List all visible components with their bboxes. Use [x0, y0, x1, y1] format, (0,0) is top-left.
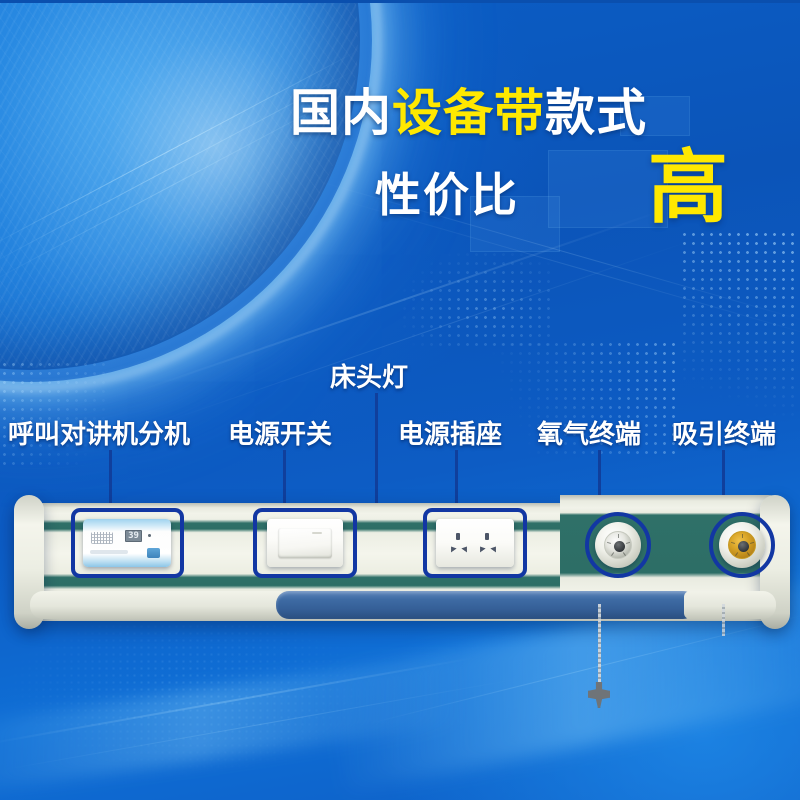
- callout-label-intercom: 呼叫对讲机分机: [8, 414, 190, 451]
- panel-lower-rail-right: [684, 591, 776, 619]
- poster-canvas: 国内设备带款式 性价比 高 呼叫对讲机分机 电源开关 床头灯 电源插座 氧气终端…: [0, 0, 800, 800]
- highlight-box-intercom: [71, 508, 184, 578]
- callout-label-bed-lamp: 床头灯: [330, 357, 408, 394]
- panel-lower-rail-blue: [276, 591, 696, 619]
- top-edge-bar: [0, 0, 800, 3]
- headline-line-1: 国内设备带款式: [290, 88, 647, 138]
- callout-label-power-switch: 电源开关: [228, 414, 332, 451]
- highlight-ring-oxygen: [585, 512, 651, 578]
- headline-big-word: 高: [648, 148, 728, 228]
- callout-label-oxygen: 氧气终端: [537, 414, 641, 451]
- oxygen-hose-cord: [598, 604, 601, 686]
- highlight-ring-suction: [709, 512, 775, 578]
- halftone-dots-right: [680, 230, 800, 420]
- headline-seg-style: 款式: [545, 85, 647, 141]
- headline-seg-equipment-belt: 设备带: [392, 85, 545, 141]
- headline-line-2: 性价比: [375, 172, 519, 218]
- halftone-dots-upper: [400, 250, 550, 350]
- medical-equipment-panel: 39: [20, 495, 784, 635]
- panel-lower-rail-left: [30, 591, 286, 619]
- highlight-box-power-switch: [253, 508, 357, 578]
- highlight-box-power-socket: [423, 508, 527, 578]
- suction-hose-cord: [722, 604, 725, 636]
- headline-seg-domestic: 国内: [290, 85, 392, 141]
- callout-label-power-socket: 电源插座: [398, 414, 502, 451]
- callout-label-suction: 吸引终端: [672, 414, 776, 451]
